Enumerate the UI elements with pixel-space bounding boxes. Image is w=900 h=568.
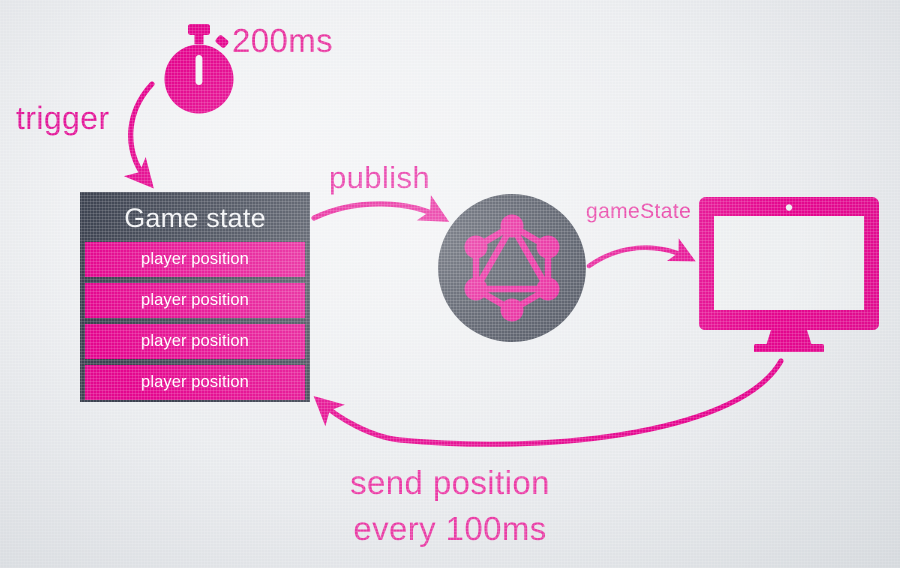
game-state-box[interactable]: Game state player position player positi…	[80, 192, 310, 402]
graphql-logo-icon[interactable]	[438, 194, 586, 342]
edge-label-gamestate: gameState	[586, 200, 691, 224]
arrow-send-position	[318, 361, 781, 444]
diagram-canvas: Game state player position player positi…	[0, 0, 900, 568]
send-position-line1: send position	[350, 464, 550, 501]
arrow-trigger	[131, 84, 152, 184]
game-state-title: Game state	[85, 196, 305, 242]
send-position-line2: every 100ms	[0, 506, 900, 552]
edge-label-publish: publish	[329, 160, 430, 196]
player-position-bar[interactable]: player position	[85, 324, 305, 359]
arrow-publish	[314, 204, 444, 219]
timer-duration-label: 200ms	[232, 22, 333, 60]
edge-label-send-position: send position every 100ms	[0, 460, 900, 552]
monitor-icon[interactable]	[694, 196, 884, 352]
player-position-bar[interactable]: player position	[85, 242, 305, 277]
edge-label-trigger: trigger	[16, 100, 110, 137]
player-position-bar[interactable]: player position	[85, 365, 305, 400]
stopwatch-icon	[158, 24, 240, 114]
player-position-bar[interactable]: player position	[85, 283, 305, 318]
arrow-gamestate	[589, 248, 691, 266]
